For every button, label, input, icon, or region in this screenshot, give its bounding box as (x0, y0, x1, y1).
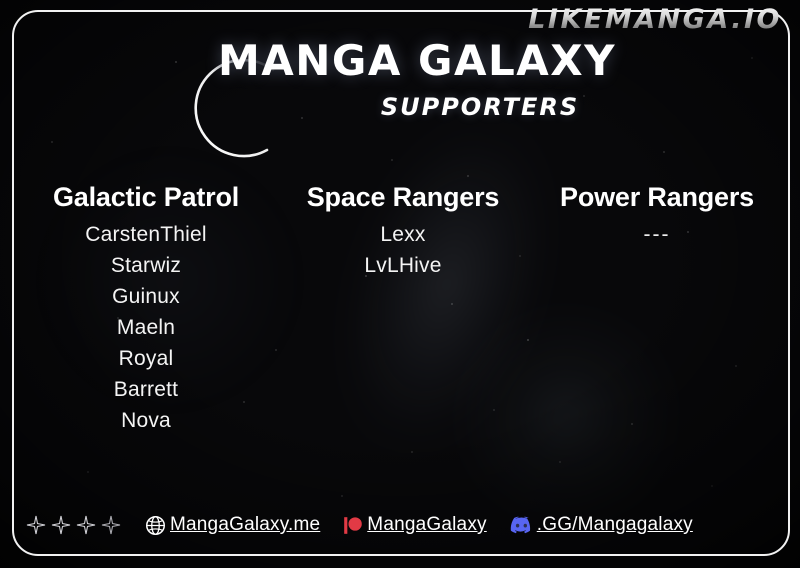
sparkle-star-icon (51, 515, 71, 535)
site-watermark: LIKEMANGA.IO (528, 4, 782, 35)
patreon-icon (342, 515, 363, 536)
list-item: Barrett (18, 374, 274, 405)
sparkle-star-icon (26, 515, 46, 535)
list-item: Nova (18, 405, 274, 436)
tier-column-power-rangers: Power Rangers --- (532, 180, 782, 250)
link-website[interactable]: MangaGalaxy.me (145, 514, 320, 536)
tier-title: Space Rangers (284, 180, 522, 214)
list-item: Guinux (18, 281, 274, 312)
logo-header: MANGA GALAXY SUPPORTERS (0, 28, 800, 148)
tier-column-space-rangers: Space Rangers Lexx LvLHive (284, 180, 522, 281)
link-label: .GG/Mangagalaxy (537, 514, 693, 536)
list-item: CarstenThiel (18, 219, 274, 250)
list-item: Maeln (18, 312, 274, 343)
social-links: MangaGalaxy.me MangaGalaxy .GG/Mangagala… (145, 513, 693, 537)
tier-title: Galactic Patrol (18, 180, 274, 214)
tier-supporter-list: CarstenThiel Starwiz Guinux Maeln Royal … (18, 219, 274, 436)
list-item: Starwiz (18, 250, 274, 281)
tier-empty-placeholder: --- (532, 219, 782, 250)
sparkle-decoration-group (26, 515, 121, 535)
footer-bar: MangaGalaxy.me MangaGalaxy .GG/Mangagala… (26, 510, 774, 540)
link-label: MangaGalaxy.me (170, 514, 320, 536)
tier-supporter-list: --- (532, 219, 782, 250)
tier-supporter-list: Lexx LvLHive (284, 219, 522, 281)
list-item: Royal (18, 343, 274, 374)
brand-title: MANGA GALAXY (0, 28, 800, 94)
link-discord[interactable]: .GG/Mangagalaxy (509, 513, 693, 537)
tier-column-galactic-patrol: Galactic Patrol CarstenThiel Starwiz Gui… (18, 180, 274, 436)
sparkle-star-icon (101, 515, 121, 535)
globe-icon (145, 515, 166, 536)
list-item: LvLHive (284, 250, 522, 281)
supporter-tiers: Galactic Patrol CarstenThiel Starwiz Gui… (18, 180, 782, 436)
link-patreon[interactable]: MangaGalaxy (342, 514, 486, 536)
poster-canvas: LIKEMANGA.IO MANGA GALAXY SUPPORTERS Gal… (0, 0, 800, 568)
discord-icon (509, 513, 533, 537)
tier-title: Power Rangers (532, 180, 782, 214)
brand-subtitle: SUPPORTERS (0, 94, 800, 120)
link-label: MangaGalaxy (367, 514, 486, 536)
list-item: Lexx (284, 219, 522, 250)
sparkle-star-icon (76, 515, 96, 535)
